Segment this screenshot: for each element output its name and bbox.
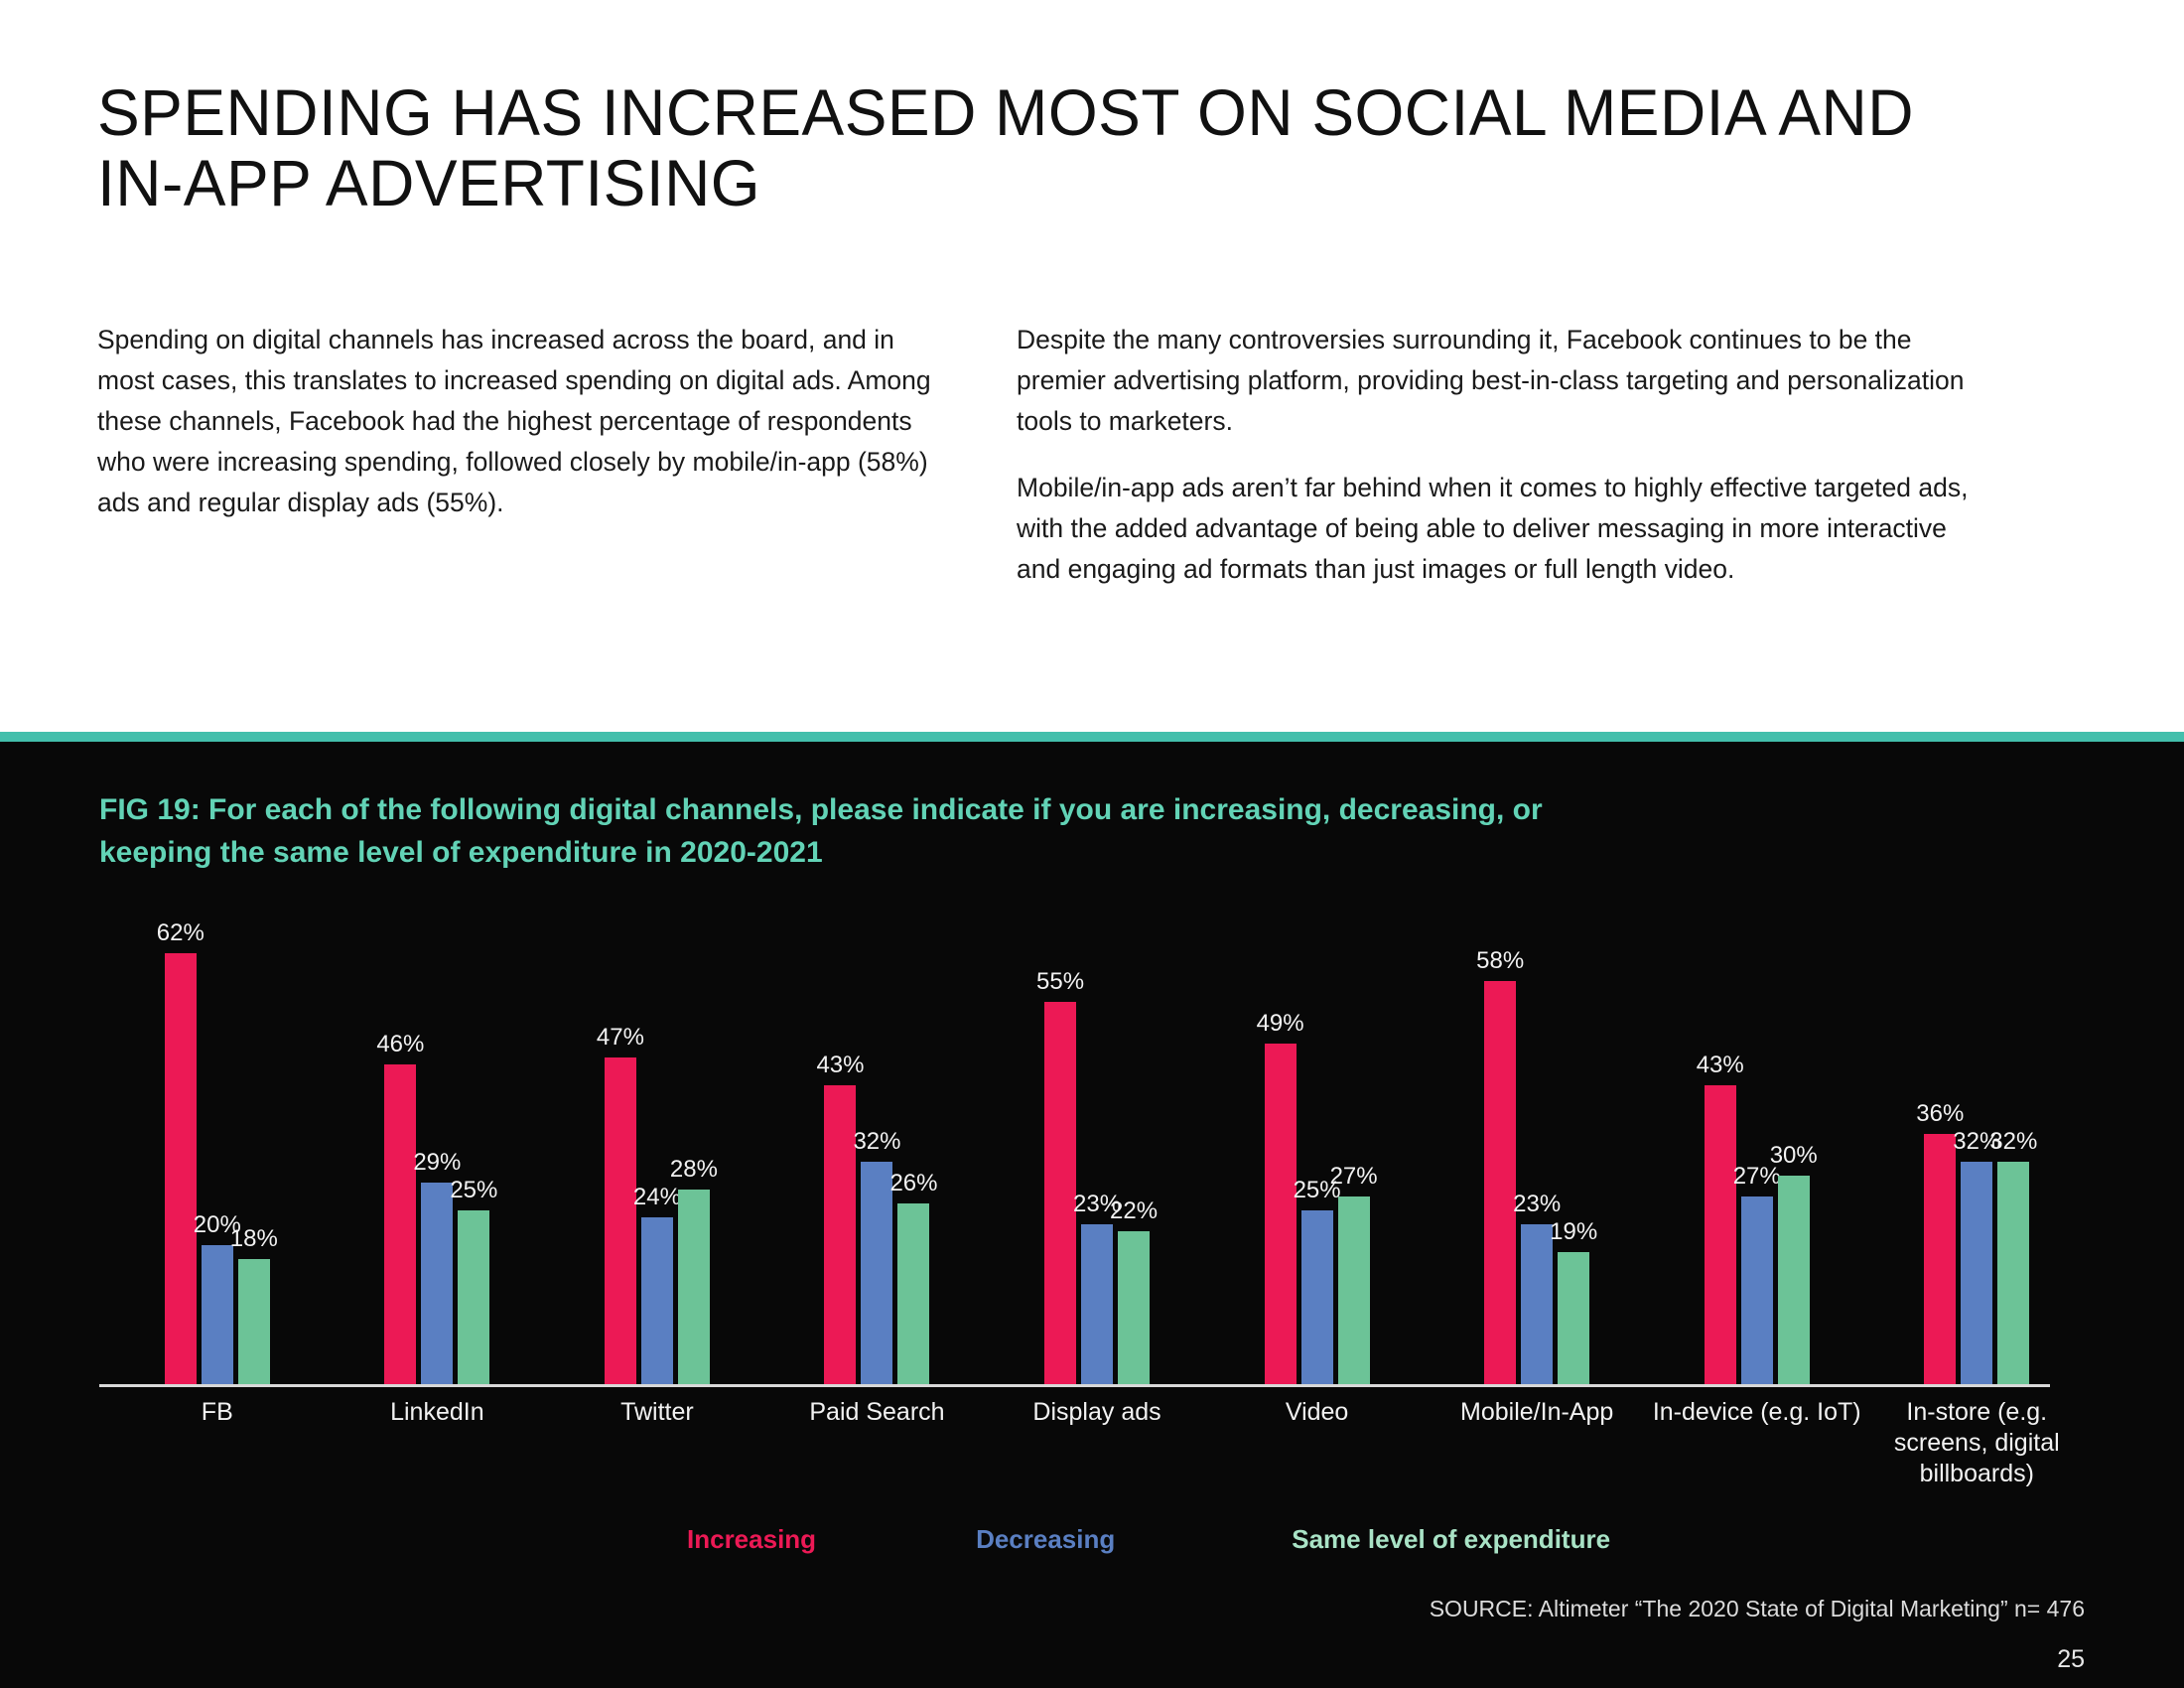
bar-value-label: 28% [670,1156,718,1184]
bar-wrapper: 49% [1265,932,1297,1384]
x-axis-line [99,1384,2050,1387]
bar-wrapper: 24% [641,932,673,1384]
bar-wrapper: 62% [165,932,197,1384]
bar-wrapper: 27% [1741,932,1773,1384]
bar-same[interactable] [458,1210,489,1384]
bar-wrapper: 58% [1484,932,1516,1384]
bar-wrapper: 27% [1338,932,1370,1384]
bar-value-label: 23% [1513,1191,1561,1218]
bar-value-label: 32% [1989,1128,2037,1156]
bar-group: 43%27%30% [1647,932,1867,1384]
body-column-right: Despite the many controversies surroundi… [1017,320,1989,590]
bar-decreasing[interactable] [421,1183,453,1384]
figure-panel: FIG 19: For each of the following digita… [0,742,2184,1688]
x-axis-category-labels: FBLinkedInTwitterPaid SearchDisplay adsV… [99,1397,2095,1489]
bar-wrapper: 32% [1997,932,2029,1384]
legend-item-increasing[interactable]: Increasing [687,1524,816,1555]
bar-increasing[interactable] [1265,1044,1297,1384]
bar-decreasing[interactable] [1741,1196,1773,1384]
bar-wrapper: 19% [1558,932,1589,1384]
bar-group: 46%29%25% [328,932,548,1384]
bar-value-label: 29% [413,1149,461,1177]
bar-value-label: 43% [1697,1052,1744,1079]
bar-group: 47%24%28% [547,932,767,1384]
bar-same[interactable] [238,1259,270,1384]
bar-wrapper: 25% [1301,932,1333,1384]
chart-plot-area: 62%20%18%46%29%25%47%24%28%43%32%26%55%2… [99,932,2095,1384]
bar-value-label: 58% [1476,947,1524,975]
bar-wrapper: 26% [897,932,929,1384]
page-title: SPENDING HAS INCREASED MOST ON SOCIAL ME… [97,77,2004,219]
bar-value-label: 36% [1916,1100,1964,1128]
x-axis-label: Mobile/In-App [1427,1397,1647,1489]
bar-wrapper: 28% [678,932,710,1384]
bar-same[interactable] [1997,1162,2029,1384]
bar-wrapper: 23% [1521,932,1553,1384]
bar-same[interactable] [897,1203,929,1384]
bar-value-label: 25% [450,1177,497,1204]
bar-wrapper: 25% [458,932,489,1384]
bar-decreasing[interactable] [1301,1210,1333,1384]
bar-wrapper: 23% [1081,932,1113,1384]
bar-value-label: 24% [633,1184,681,1211]
bar-group: 55%23%22% [987,932,1207,1384]
bar-group: 62%20%18% [107,932,328,1384]
bar-value-label: 22% [1110,1197,1158,1225]
page-number: 25 [2057,1645,2085,1674]
bar-value-label: 18% [230,1225,278,1253]
bar-increasing[interactable] [1484,981,1516,1384]
bar-group: 49%25%27% [1207,932,1428,1384]
body-column-left: Spending on digital channels has increas… [97,320,931,590]
bar-chart: 62%20%18%46%29%25%47%24%28%43%32%26%55%2… [99,932,2095,1384]
bar-decreasing[interactable] [202,1245,233,1384]
bar-wrapper: 20% [202,932,233,1384]
bar-value-label: 27% [1330,1163,1378,1191]
bar-increasing[interactable] [1044,1002,1076,1384]
bar-value-label: 32% [853,1128,900,1156]
bar-wrapper: 47% [605,932,636,1384]
bar-value-label: 47% [597,1024,644,1052]
bar-value-label: 49% [1257,1010,1304,1038]
bar-wrapper: 18% [238,932,270,1384]
x-axis-label: Display ads [987,1397,1207,1489]
x-axis-label: FB [107,1397,328,1489]
bar-group: 43%32%26% [767,932,988,1384]
body-columns: Spending on digital channels has increas… [97,320,2093,590]
bar-group: 58%23%19% [1427,932,1647,1384]
bar-wrapper: 46% [384,932,416,1384]
bar-same[interactable] [1338,1196,1370,1384]
slide-page: SPENDING HAS INCREASED MOST ON SOCIAL ME… [0,0,2184,1688]
body-paragraph: Spending on digital channels has increas… [97,320,931,523]
bar-same[interactable] [678,1190,710,1384]
bar-wrapper: 43% [824,932,856,1384]
bar-decreasing[interactable] [861,1162,892,1384]
x-axis-label: Paid Search [767,1397,988,1489]
legend-item-same-level[interactable]: Same level of expenditure [1292,1524,1610,1555]
x-axis-label: In-store (e.g. screens, digital billboar… [1867,1397,2088,1489]
body-paragraph: Mobile/in-app ads aren’t far behind when… [1017,468,1989,590]
body-paragraph: Despite the many controversies surroundi… [1017,320,1989,442]
bar-decreasing[interactable] [1961,1162,1992,1384]
bar-value-label: 55% [1036,968,1084,996]
bar-increasing[interactable] [165,953,197,1384]
bar-decreasing[interactable] [1081,1224,1113,1384]
bar-increasing[interactable] [1924,1134,1956,1384]
x-axis-label: Twitter [547,1397,767,1489]
x-axis-label: In-device (e.g. IoT) [1647,1397,1867,1489]
bar-wrapper: 22% [1118,932,1150,1384]
bar-value-label: 43% [816,1052,864,1079]
bar-wrapper: 36% [1924,932,1956,1384]
bar-value-label: 46% [376,1031,424,1058]
bar-same[interactable] [1118,1231,1150,1384]
legend-item-decreasing[interactable]: Decreasing [976,1524,1115,1555]
bar-value-label: 26% [889,1170,937,1197]
bar-value-label: 62% [157,919,205,947]
x-axis-label: LinkedIn [328,1397,548,1489]
bar-increasing[interactable] [605,1057,636,1384]
chart-legend: Increasing Decreasing Same level of expe… [99,1524,2095,1555]
teal-accent-divider [0,732,2184,742]
source-note: SOURCE: Altimeter “The 2020 State of Dig… [1430,1596,2085,1622]
x-axis-label: Video [1207,1397,1428,1489]
bar-wrapper: 30% [1778,932,1810,1384]
bar-increasing[interactable] [384,1064,416,1384]
bar-wrapper: 29% [421,932,453,1384]
bar-wrapper: 43% [1705,932,1736,1384]
bar-wrapper: 32% [861,932,892,1384]
bar-value-label: 30% [1770,1142,1818,1170]
bar-increasing[interactable] [824,1085,856,1384]
bar-same[interactable] [1558,1252,1589,1384]
bar-wrapper: 32% [1961,932,1992,1384]
bar-increasing[interactable] [1705,1085,1736,1384]
bar-group: 36%32%32% [1867,932,2088,1384]
bar-decreasing[interactable] [641,1217,673,1384]
bar-value-label: 19% [1550,1218,1597,1246]
figure-title: FIG 19: For each of the following digita… [99,789,1588,874]
bar-decreasing[interactable] [1521,1224,1553,1384]
bar-same[interactable] [1778,1176,1810,1384]
bar-wrapper: 55% [1044,932,1076,1384]
